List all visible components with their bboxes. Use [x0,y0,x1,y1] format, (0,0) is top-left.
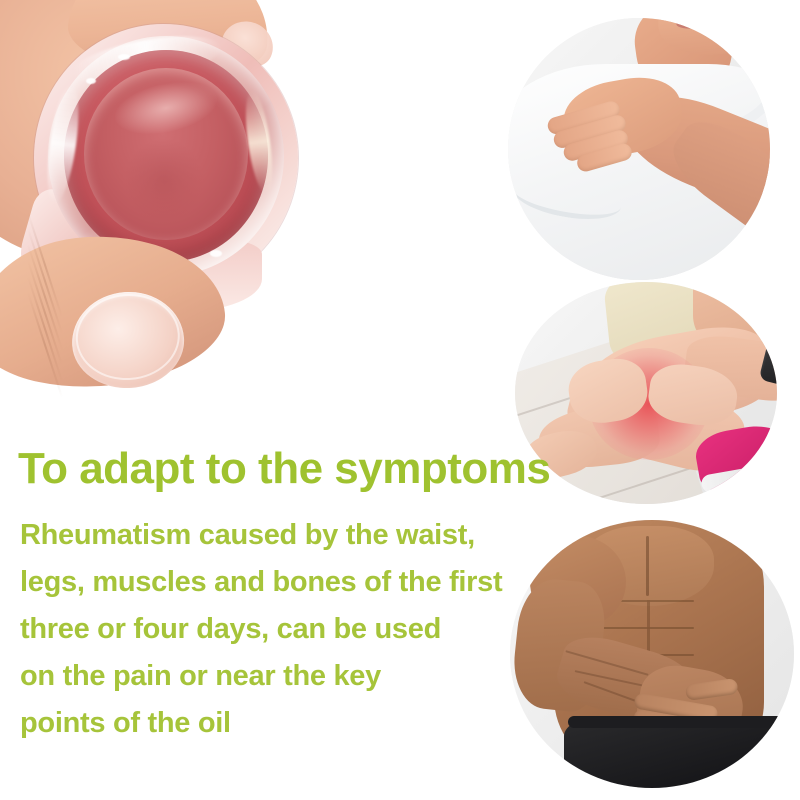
headline: To adapt to the symptoms [0,440,520,498]
body-line: on the pain or near the key [20,653,520,700]
body-line: Rheumatism caused by the waist, [20,512,520,559]
body-copy: Rheumatism caused by the waist, legs, mu… [0,512,520,747]
body-line: three or four days, can be used [20,606,520,653]
shorts-waistband [568,716,792,728]
body-line: points of the oil [20,700,520,747]
shoulder-pain-photo [508,18,770,280]
hand-holding-balm-jar-photo [0,0,340,410]
jar-crystal-speck [86,78,96,84]
jar-crystal-speck [210,250,222,257]
balm-sheen [110,74,222,143]
balm-surface [84,68,248,240]
marketing-text-block: To adapt to the symptoms Rheumatism caus… [0,440,520,747]
body-line: legs, muscles and bones of the first [20,559,520,606]
balm-swirl [124,138,204,224]
knee-pain-photo [515,282,777,504]
product-marketing-image: To adapt to the symptoms Rheumatism caus… [0,0,800,800]
jar-crystal-speck [118,54,130,60]
waist-pain-photo [510,520,794,788]
